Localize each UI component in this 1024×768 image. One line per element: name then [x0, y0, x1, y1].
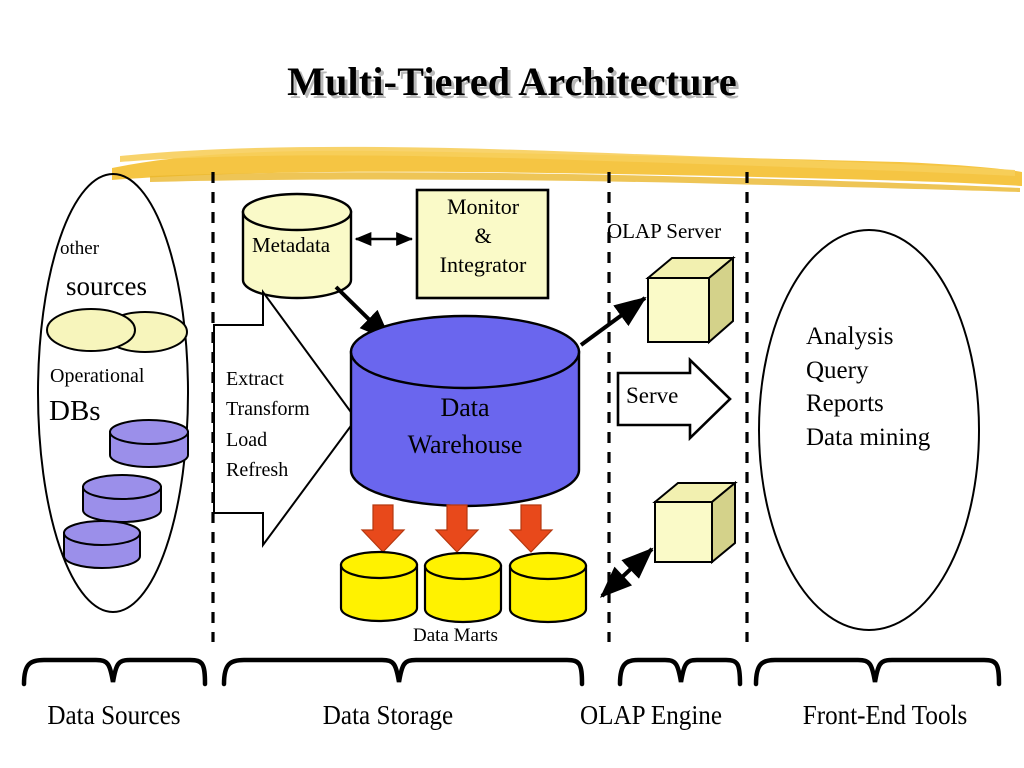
source-ellipse-left: [47, 309, 135, 351]
olap-engine-group: [581, 258, 735, 596]
data-mart-arrow-3: [510, 505, 552, 552]
olap-server-label: OLAP Server: [607, 220, 721, 242]
monitor-line-3: Integrator: [418, 250, 548, 279]
tier-braces: [24, 660, 999, 684]
monitor-line-1: Monitor: [418, 192, 548, 221]
source-ellipse-right: [103, 312, 187, 352]
tier-caption-data-sources: Data Sources: [8, 700, 220, 731]
warehouse-line-2: Warehouse: [350, 427, 580, 464]
tier-brace-3: [620, 660, 740, 684]
operational-label: Operational: [50, 366, 144, 387]
etl-line-3: Load: [226, 425, 310, 455]
operational-db-cylinders: [64, 420, 188, 568]
data-mart-cylinders: [341, 552, 586, 622]
warehouse-to-cube-arrow: [581, 298, 645, 345]
data-mart-cylinder-3: [510, 553, 586, 622]
etl-line-4: Refresh: [226, 455, 310, 485]
monitor-line-2: &: [418, 221, 548, 250]
front-end-line-4: Data mining: [806, 421, 930, 455]
warehouse-line-1: Data: [350, 390, 580, 427]
data-warehouse-label: Data Warehouse: [350, 390, 580, 464]
data-mart-arrow-1: [362, 505, 404, 552]
etl-line-2: Transform: [226, 394, 310, 424]
olap-cube-lower: [655, 483, 735, 562]
tier-brace-2: [224, 660, 582, 684]
sources-label: sources: [66, 272, 147, 300]
serve-label: Serve: [626, 384, 678, 408]
db-cylinder-3: [64, 521, 140, 568]
datamart-to-cube-arrow: [602, 549, 652, 596]
data-mart-cylinder-2: [425, 553, 501, 622]
metadata-to-warehouse-arrow: [336, 287, 390, 340]
dbs-label: DBs: [49, 396, 101, 426]
slide-canvas: Multi-Tiered Architecture: [0, 0, 1024, 768]
tier-caption-olap-engine: OLAP Engine: [551, 700, 752, 731]
etl-line-1: Extract: [226, 364, 310, 394]
tier-brace-1: [24, 660, 205, 684]
front-end-line-3: Reports: [806, 387, 930, 421]
data-mart-arrow-2: [436, 505, 478, 552]
front-end-line-2: Query: [806, 354, 930, 388]
tier-caption-front-end-tools: Front-End Tools: [764, 700, 1006, 731]
tier-brace-4: [756, 660, 999, 684]
olap-cube-upper: [648, 258, 733, 342]
other-label: other: [60, 239, 99, 259]
db-cylinder-1: [110, 420, 188, 467]
metadata-label: Metadata: [252, 234, 330, 256]
front-end-line-1: Analysis: [806, 320, 930, 354]
data-marts-label: Data Marts: [413, 626, 498, 646]
etl-label: Extract Transform Load Refresh: [226, 364, 310, 486]
page-title: Multi-Tiered Architecture: [0, 58, 1024, 105]
db-cylinder-2: [83, 475, 161, 522]
monitor-integrator-label: Monitor & Integrator: [418, 192, 548, 279]
data-mart-cylinder-1: [341, 552, 417, 621]
banner-brushstroke: [112, 147, 1022, 192]
tier-caption-data-storage: Data Storage: [230, 700, 546, 731]
data-mart-feed-arrows: [362, 505, 552, 552]
front-end-tools-label: Analysis Query Reports Data mining: [806, 320, 930, 454]
